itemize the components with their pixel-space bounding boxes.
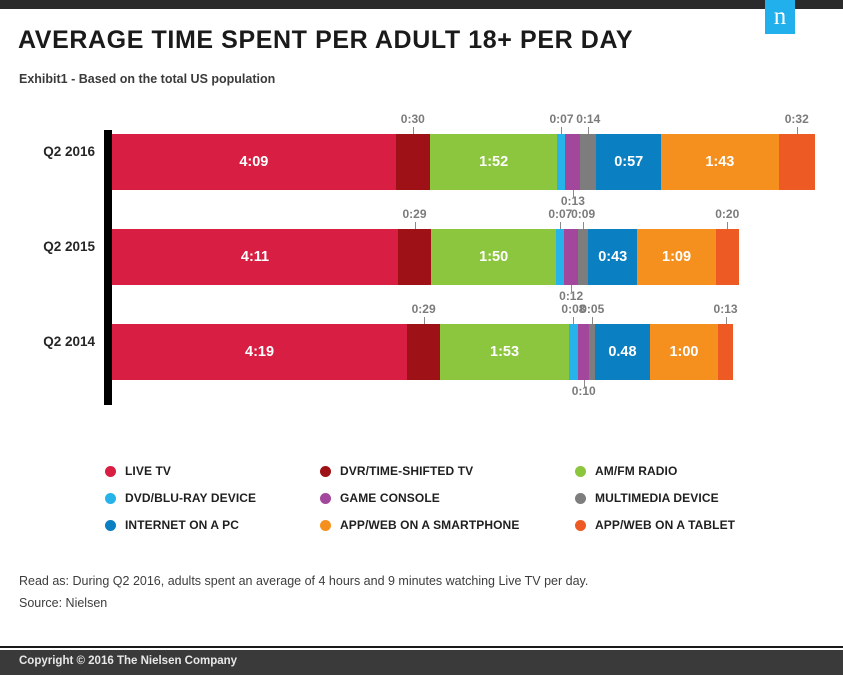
- segment-value: 1:50: [431, 229, 556, 285]
- legend-swatch-icon: [575, 520, 586, 531]
- segment-value: 0:43: [588, 229, 637, 285]
- segment-value: 4:09: [112, 134, 396, 190]
- bar-segment-am-fm-radio[interactable]: 1:53: [440, 324, 569, 380]
- segment-callout-value: 0:20: [715, 207, 739, 221]
- bar-segment-dvr-time-shifted-tv[interactable]: [396, 134, 430, 190]
- legend-swatch-icon: [320, 466, 331, 477]
- legend-item[interactable]: MULTIMEDIA DEVICE: [575, 485, 719, 511]
- legend-swatch-icon: [105, 493, 116, 504]
- segment-value: 1:43: [661, 134, 778, 190]
- bar-segment-app-web-on-a-tablet[interactable]: [718, 324, 733, 380]
- bar-segment-app-web-on-a-smartphone[interactable]: 1:00: [650, 324, 718, 380]
- read-as-note: Read as: During Q2 2016, adults spent an…: [19, 574, 588, 588]
- callout-tick: [560, 222, 561, 229]
- legend-item[interactable]: GAME CONSOLE: [320, 485, 440, 511]
- top-accent-bar: [0, 0, 843, 9]
- bar-segment-dvr-time-shifted-tv[interactable]: [407, 324, 440, 380]
- segment-value: 4:19: [112, 324, 407, 380]
- legend-label: AM/FM RADIO: [595, 464, 677, 478]
- segment-value: 4:11: [112, 229, 398, 285]
- bar-segment-dvr-time-shifted-tv[interactable]: [398, 229, 431, 285]
- bar-segment-app-web-on-a-smartphone[interactable]: 1:43: [661, 134, 778, 190]
- segment-callout-value: 0:14: [576, 112, 600, 126]
- segment-callout-value: 0:32: [785, 112, 809, 126]
- bar-row: 4:111:500:431:09: [112, 229, 739, 285]
- callout-tick: [415, 222, 416, 229]
- y-axis-line: [104, 130, 112, 405]
- legend-item[interactable]: DVD/BLU-RAY DEVICE: [105, 485, 256, 511]
- legend-swatch-icon: [575, 493, 586, 504]
- bar-segment-internet-on-a-pc[interactable]: 0.48: [595, 324, 650, 380]
- chart-legend: LIVE TVDVR/TIME-SHIFTED TVAM/FM RADIODVD…: [105, 458, 785, 544]
- bar-row: 4:191:530.481:00: [112, 324, 733, 380]
- segment-callout-value: 0:30: [401, 112, 425, 126]
- segment-value: 0:57: [596, 134, 661, 190]
- bar-segment-live-tv[interactable]: 4:19: [112, 324, 407, 380]
- legend-label: APP/WEB ON A SMARTPHONE: [340, 518, 519, 532]
- bar-segment-internet-on-a-pc[interactable]: 0:43: [588, 229, 637, 285]
- segment-callout-value: 0:07: [549, 112, 573, 126]
- footer-divider: [0, 646, 843, 648]
- copyright-text: Copyright © 2016 The Nielsen Company: [19, 655, 237, 667]
- bar-segment-dvd-blu-ray-device[interactable]: [557, 134, 565, 190]
- bar-segment-live-tv[interactable]: 4:09: [112, 134, 396, 190]
- legend-item[interactable]: INTERNET ON A PC: [105, 512, 239, 538]
- callout-tick: [413, 127, 414, 134]
- legend-label: DVD/BLU-RAY DEVICE: [125, 491, 256, 505]
- legend-label: APP/WEB ON A TABLET: [595, 518, 735, 532]
- bar-segment-game-console[interactable]: [564, 229, 578, 285]
- legend-label: DVR/TIME-SHIFTED TV: [340, 464, 473, 478]
- bar-segment-game-console[interactable]: [578, 324, 589, 380]
- bar-segment-internet-on-a-pc[interactable]: 0:57: [596, 134, 661, 190]
- bar-segment-dvd-blu-ray-device[interactable]: [569, 324, 578, 380]
- legend-item[interactable]: APP/WEB ON A SMARTPHONE: [320, 512, 519, 538]
- page-title: AVERAGE TIME SPENT PER ADULT 18+ PER DAY: [18, 26, 633, 55]
- segment-callout-value: 0:13: [714, 302, 738, 316]
- segment-value: 1:52: [430, 134, 558, 190]
- bar-segment-am-fm-radio[interactable]: 1:52: [430, 134, 558, 190]
- category-label-q2-2015: Q2 2015: [0, 239, 95, 254]
- bar-segment-app-web-on-a-smartphone[interactable]: 1:09: [637, 229, 716, 285]
- callout-tick: [797, 127, 798, 134]
- segment-callout-value: 0:29: [412, 302, 436, 316]
- segment-callout-value: 0:09: [571, 207, 595, 221]
- legend-swatch-icon: [320, 520, 331, 531]
- callout-tick: [726, 317, 727, 324]
- category-label-q2-2016: Q2 2016: [0, 144, 95, 159]
- legend-label: GAME CONSOLE: [340, 491, 440, 505]
- bar-segment-game-console[interactable]: [565, 134, 580, 190]
- callout-tick: [584, 380, 585, 387]
- bar-row: 4:091:520:571:43: [112, 134, 815, 190]
- category-label-q2-2014: Q2 2014: [0, 334, 95, 349]
- segment-callout-value: 0:29: [402, 207, 426, 221]
- legend-item[interactable]: DVR/TIME-SHIFTED TV: [320, 458, 473, 484]
- callout-tick: [561, 127, 562, 134]
- nielsen-logo: n: [765, 0, 795, 34]
- segment-value: 0.48: [595, 324, 650, 380]
- page-subtitle: Exhibit1 - Based on the total US populat…: [19, 72, 275, 86]
- bar-segment-app-web-on-a-tablet[interactable]: [716, 229, 739, 285]
- legend-swatch-icon: [320, 493, 331, 504]
- segment-value: 1:53: [440, 324, 569, 380]
- legend-swatch-icon: [105, 466, 116, 477]
- legend-swatch-icon: [575, 466, 586, 477]
- bar-segment-multimedia-device[interactable]: [578, 229, 588, 285]
- segment-value: 1:00: [650, 324, 718, 380]
- bar-segment-am-fm-radio[interactable]: 1:50: [431, 229, 556, 285]
- legend-label: MULTIMEDIA DEVICE: [595, 491, 719, 505]
- legend-item[interactable]: LIVE TV: [105, 458, 171, 484]
- legend-swatch-icon: [105, 520, 116, 531]
- callout-tick: [588, 127, 589, 134]
- callout-tick: [424, 317, 425, 324]
- bar-segment-multimedia-device[interactable]: [580, 134, 596, 190]
- segment-callout-value: 0:07: [548, 207, 572, 221]
- bar-segment-live-tv[interactable]: 4:11: [112, 229, 398, 285]
- callout-tick: [573, 317, 574, 324]
- callout-tick: [573, 190, 574, 197]
- legend-item[interactable]: AM/FM RADIO: [575, 458, 677, 484]
- segment-value: 1:09: [637, 229, 716, 285]
- legend-label: LIVE TV: [125, 464, 171, 478]
- stacked-bar-chart: Q2 20160:300:070:130:140:324:091:520:571…: [0, 110, 843, 420]
- callout-tick: [592, 317, 593, 324]
- bar-segment-dvd-blu-ray-device[interactable]: [556, 229, 564, 285]
- legend-label: INTERNET ON A PC: [125, 518, 239, 532]
- slide-canvas: n AVERAGE TIME SPENT PER ADULT 18+ PER D…: [0, 0, 843, 675]
- source-note: Source: Nielsen: [19, 596, 107, 610]
- callout-tick: [583, 222, 584, 229]
- callout-tick: [571, 285, 572, 292]
- bar-segment-app-web-on-a-tablet[interactable]: [779, 134, 815, 190]
- callout-tick: [727, 222, 728, 229]
- legend-item[interactable]: APP/WEB ON A TABLET: [575, 512, 735, 538]
- segment-callout-value: 0:05: [580, 302, 604, 316]
